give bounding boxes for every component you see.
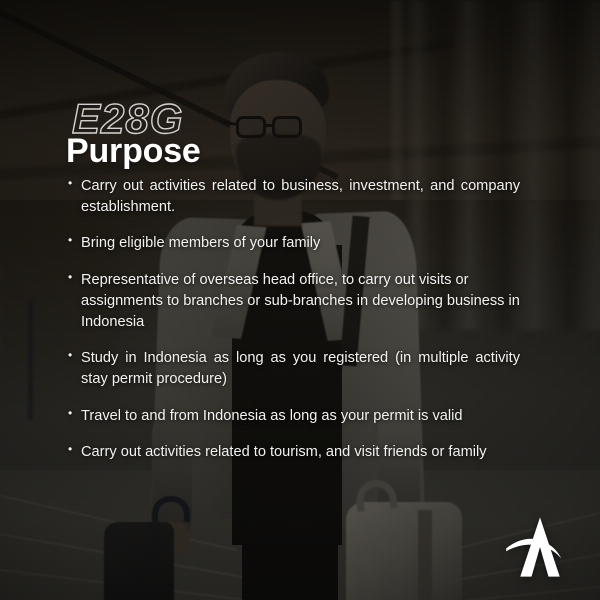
a-swoosh-logo-icon [504, 516, 576, 578]
poster: E28G Purpose Carry out activities relate… [0, 0, 600, 600]
list-item: Bring eligible members of your family [68, 233, 520, 254]
content-layer: E28G Purpose Carry out activities relate… [0, 0, 600, 600]
page-title: Purpose [66, 134, 201, 168]
list-item: Study in Indonesia as long as you regist… [68, 348, 520, 389]
list-item: Travel to and from Indonesia as long as … [68, 406, 520, 427]
list-item: Representative of overseas head office, … [68, 270, 520, 332]
list-item: Carry out activities related to tourism,… [68, 442, 520, 463]
purpose-list: Carry out activities related to business… [68, 176, 520, 463]
list-item: Carry out activities related to business… [68, 176, 520, 217]
